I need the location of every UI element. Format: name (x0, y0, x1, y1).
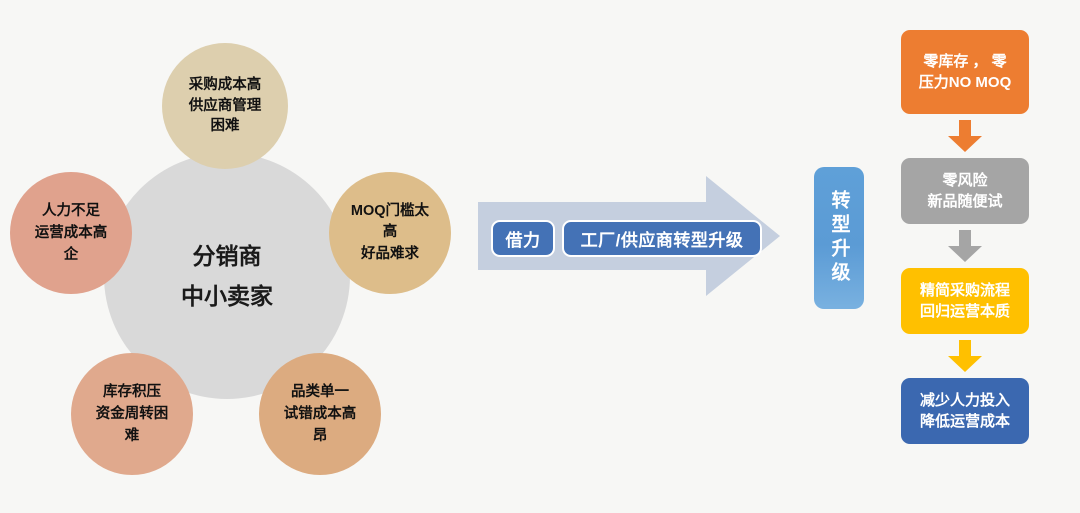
circle-bottom-left-line-3: 难 (125, 425, 140, 447)
down-arrow-icon-3 (948, 340, 982, 372)
circle-bottom-left-line-2: 资金周转困 (96, 403, 169, 425)
flow-box-streamlined-procurement: 精简采购流程 回归运营本质 (901, 268, 1029, 334)
outcome-flow: 零库存 ， 零 压力NO MOQ 零风险 新品随便试 精简采购流程 回归运营本质 (901, 30, 1029, 444)
circle-manpower-shortage: 人力不足 运营成本高 企 (10, 172, 132, 294)
down-arrow-icon-2 (948, 230, 982, 262)
circle-center-line-1: 分销商 (193, 236, 262, 276)
flow-box-reduce-manpower: 减少人力投入 降低运营成本 (901, 378, 1029, 444)
flow-box-4-line-1: 减少人力投入 (920, 390, 1010, 411)
down-arrow-icon-1 (948, 120, 982, 152)
circle-left-line-2: 运营成本高 (35, 222, 108, 244)
flow-box-2-line-1: 零风险 (942, 170, 987, 191)
circle-top-line-3: 困难 (211, 116, 240, 137)
circle-bottom-right-line-2: 试错成本高 (284, 403, 357, 425)
flow-box-zero-risk: 零风险 新品随便试 (901, 158, 1029, 224)
circle-single-category: 品类单一 试错成本高 昂 (259, 353, 381, 475)
circle-bottom-left-line-1: 库存积压 (103, 381, 161, 403)
flow-box-3-line-2: 回归运营本质 (920, 301, 1010, 322)
circle-center-line-2: 中小卖家 (181, 276, 273, 316)
circle-procurement-cost: 采购成本高 供应商管理 困难 (162, 43, 288, 169)
circle-left-line-3: 企 (64, 244, 79, 266)
circle-right-line-1: MOQ门槛太 (351, 201, 429, 222)
circle-bottom-right-line-3: 昂 (313, 425, 328, 447)
flow-box-4-line-2: 降低运营成本 (920, 411, 1010, 432)
chip-leverage[interactable]: 借力 (491, 220, 555, 257)
diagram-canvas: 分销商 中小卖家 采购成本高 供应商管理 困难 人力不足 运营成本高 企 MOQ… (0, 0, 1080, 513)
circle-right-line-3: 好品难求 (361, 244, 419, 265)
circle-right-line-2: 高 (383, 222, 398, 243)
transition-arrow-chips: 借力 工厂/供应商转型升级 (491, 220, 762, 257)
flow-box-3-line-1: 精简采购流程 (920, 280, 1010, 301)
circle-left-line-1: 人力不足 (42, 200, 100, 222)
flow-box-1-line-2: 压力NO MOQ (919, 72, 1012, 93)
circle-inventory-backlog: 库存积压 资金周转困 难 (71, 353, 193, 475)
flow-box-zero-inventory: 零库存 ， 零 压力NO MOQ (901, 30, 1029, 114)
flow-box-1-line-1: 零库存 ， 零 (923, 51, 1006, 72)
circle-bottom-right-line-1: 品类单一 (291, 381, 349, 403)
flow-box-2-line-2: 新品随便试 (927, 191, 1002, 212)
circle-top-line-1: 采购成本高 (189, 75, 262, 96)
vertical-tag-transformation: 转型升级 (814, 167, 864, 309)
circle-moq-threshold: MOQ门槛太 高 好品难求 (329, 172, 451, 294)
vertical-tag-label: 转型升级 (830, 190, 849, 286)
circle-top-line-2: 供应商管理 (189, 96, 262, 117)
chip-factory-supplier-upgrade[interactable]: 工厂/供应商转型升级 (562, 220, 762, 257)
